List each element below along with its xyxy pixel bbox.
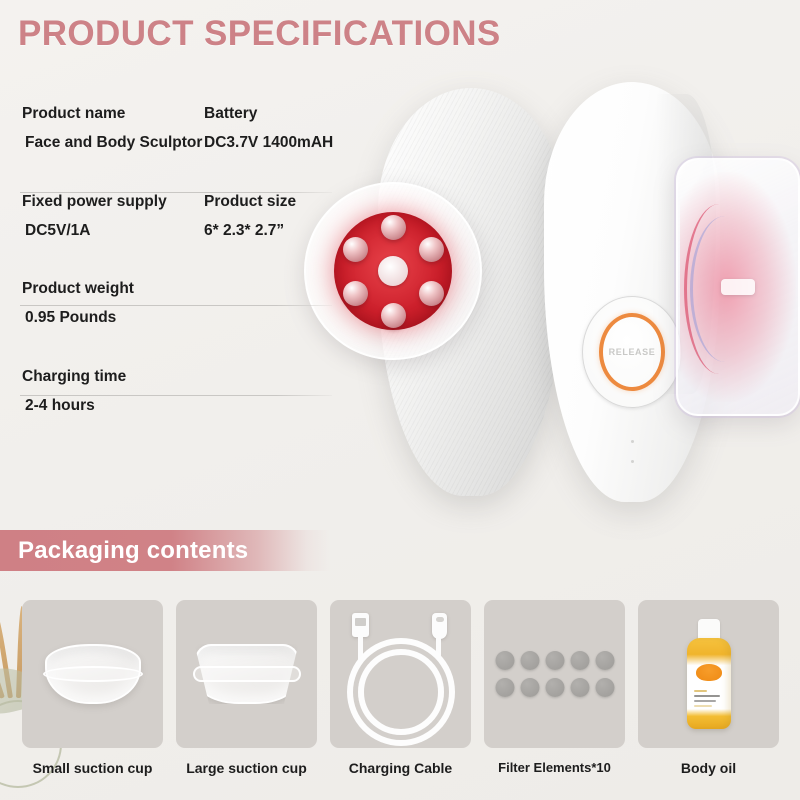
spec-cell: Product size 6* 2.3* 2.7” [204,194,296,240]
label-line [694,705,712,707]
bottle-label-text [694,690,724,710]
square-suction-cup-lit [676,158,800,416]
orange-graphic [696,664,722,681]
release-button-label: RELEASE [609,347,656,357]
packaging-item-thumbnail [176,600,317,748]
packaging-contents-label: Packaging contents [0,537,248,565]
spec-key: Product size [204,194,296,210]
spec-value: 0.95 Pounds [22,310,204,326]
release-button[interactable]: RELEASE [582,296,682,408]
device-hero-image: RELEASE [286,74,800,544]
page-title: PRODUCT SPECIFICATIONS [18,14,501,54]
cable-wire [436,634,441,664]
suction-cup-rim [43,666,143,682]
packaging-item-thumbnail [22,600,163,748]
packaging-item-label: Body oil [638,760,779,776]
square-cup-nozzle [721,279,755,295]
spec-value: 2-4 hours [22,398,204,414]
filter-disc [520,678,539,697]
massage-ball [419,281,444,306]
specifications-table: Product name Face and Body Sculptor Batt… [0,104,360,414]
label-line [694,700,716,702]
label-line [694,695,720,697]
suction-cup-hub [378,256,408,286]
packaging-item-label: Large suction cup [176,760,317,776]
bottle-body [687,638,731,729]
filter-disc [595,678,614,697]
filter-disc [545,678,564,697]
spec-key: Fixed power supply [22,194,204,210]
packaging-item-thumbnail [484,600,625,748]
filter-disc [570,651,589,670]
packaging-item-filter-elements[interactable]: Filter Elements*10 [484,600,625,776]
spec-cell: Product weight 0.95 Pounds [22,281,204,327]
packaging-items-list: Small suction cup Large suction cup Char… [22,600,790,776]
packaging-contents-banner: Packaging contents [0,530,330,571]
spec-value: 6* 2.3* 2.7” [204,223,296,239]
filter-disc [595,651,614,670]
massage-ball [381,215,406,240]
filter-disc [495,678,514,697]
spec-cell: Charging time 2-4 hours [22,369,204,415]
packaging-item-thumbnail [330,600,471,748]
filter-disc [495,651,514,670]
cable-wire [358,634,363,668]
device-indicator-2 [624,460,640,465]
spec-key: Battery [204,106,333,122]
device-indicator-1 [624,440,640,445]
filter-discs-icon [495,651,614,697]
spec-row: Product weight 0.95 Pounds [0,239,360,327]
filter-disc [570,678,589,697]
packaging-item-charging-cable[interactable]: Charging Cable [330,600,471,776]
spec-value: DC3.7V 1400mAH [204,135,333,151]
filter-disc [520,651,539,670]
spec-row: Charging time 2-4 hours [0,327,360,415]
massage-ball [419,237,444,262]
spec-row: Product name Face and Body Sculptor Batt… [0,104,360,152]
packaging-item-large-suction-cup[interactable]: Large suction cup [176,600,317,776]
spec-value: Face and Body Sculptor [22,135,204,151]
suction-cup-rim [193,666,301,682]
spec-row: Fixed power supply DC5V/1A Product size … [0,152,360,240]
massage-ball [381,303,406,328]
spec-key: Charging time [22,369,204,385]
usb-cable-icon [358,649,444,735]
packaging-item-label: Filter Elements*10 [484,760,625,775]
indicator-dot [631,460,634,463]
spec-key: Product name [22,106,204,122]
packaging-item-label: Charging Cable [330,760,471,776]
packaging-item-thumbnail [638,600,779,748]
spec-value: DC5V/1A [22,223,204,239]
spec-cell: Fixed power supply DC5V/1A [22,194,204,240]
packaging-item-body-oil[interactable]: Body oil [638,600,779,776]
spec-key: Product weight [22,281,204,297]
spec-cell: Battery DC3.7V 1400mAH [204,106,333,152]
packaging-item-label: Small suction cup [22,760,163,776]
label-line [694,690,707,692]
indicator-dot [631,440,634,443]
packaging-item-small-suction-cup[interactable]: Small suction cup [22,600,163,776]
oil-bottle-icon [687,619,731,729]
product-specification-infographic: PRODUCT SPECIFICATIONS RELEASE [0,0,800,800]
spec-cell: Product name Face and Body Sculptor [22,106,204,152]
filter-disc [545,651,564,670]
release-button-ring: RELEASE [599,313,665,391]
